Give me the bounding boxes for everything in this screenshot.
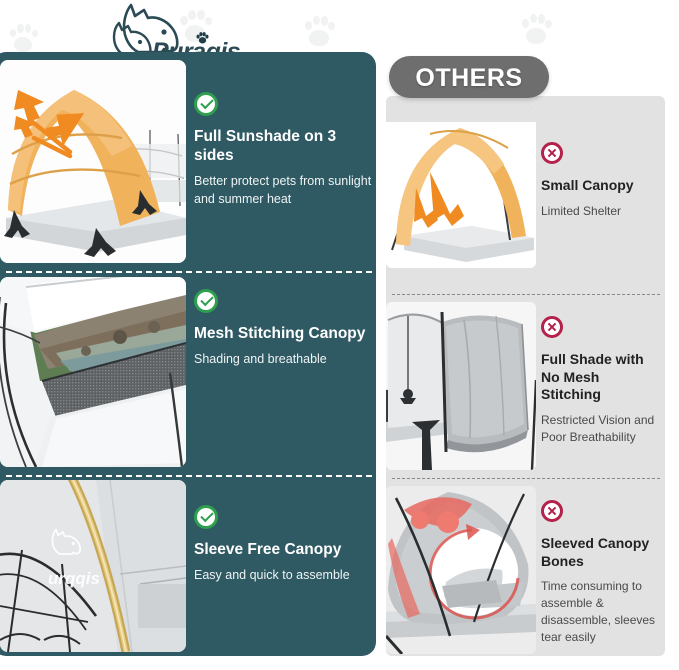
brand-row-divider-1	[6, 271, 372, 273]
cross-circle-icon	[541, 500, 563, 522]
others-row-1-text: Small Canopy Limited Shelter	[541, 142, 661, 220]
others-header-badge: OTHERS	[389, 56, 549, 98]
others-row-3-description: Time consuming to assemble & disassemble…	[541, 578, 661, 646]
brand-row-divider-2	[6, 475, 372, 477]
brand-row-1-image	[0, 60, 186, 263]
brand-row-3-image: urqqis	[0, 480, 186, 652]
paw-print-icon	[520, 12, 552, 46]
brand-row-1-description: Better protect pets from sunlight and su…	[194, 173, 374, 209]
comparison-infographic: Puraqis OTHERS	[0, 0, 679, 670]
others-row-1-description: Limited Shelter	[541, 203, 661, 220]
brand-row-3-text: Sleeve Free Canopy Easy and quick to ass…	[194, 505, 374, 585]
paw-print-icon	[303, 14, 335, 48]
svg-text:urqqis: urqqis	[48, 569, 100, 588]
others-row-2-title: Full Shade with No Mesh Stitching	[541, 351, 661, 404]
others-row-2-description: Restricted Vision and Poor Breathability	[541, 412, 661, 446]
brand-row-3-description: Easy and quick to assemble	[194, 567, 374, 585]
others-row-divider-1	[392, 294, 660, 295]
brand-row-2-description: Shading and breathable	[194, 351, 374, 369]
brand-row-2-image	[0, 277, 186, 467]
others-row-2-text: Full Shade with No Mesh Stitching Restri…	[541, 316, 661, 446]
brand-row-1-title: Full Sunshade on 3 sides	[194, 128, 374, 166]
others-row-3-title: Sleeved Canopy Bones	[541, 535, 661, 570]
brand-row-2-title: Mesh Stitching Canopy	[194, 325, 374, 344]
others-row-1-title: Small Canopy	[541, 177, 661, 195]
others-row-2-image	[386, 302, 536, 470]
cross-circle-icon	[541, 316, 563, 338]
paw-print-icon	[8, 22, 38, 54]
check-circle-icon	[194, 289, 218, 313]
check-circle-icon	[194, 505, 218, 529]
others-row-divider-2	[392, 478, 660, 479]
brand-row-1-text: Full Sunshade on 3 sides Better protect …	[194, 92, 374, 208]
others-row-3-text: Sleeved Canopy Bones Time consuming to a…	[541, 500, 661, 646]
brand-row-3-title: Sleeve Free Canopy	[194, 541, 374, 560]
others-row-1-image	[386, 104, 536, 268]
paw-print-icon	[196, 32, 209, 44]
others-header-label: OTHERS	[389, 64, 549, 93]
cross-circle-icon	[541, 142, 563, 164]
others-row-3-image	[386, 486, 536, 654]
check-circle-icon	[194, 92, 218, 116]
brand-row-2-text: Mesh Stitching Canopy Shading and breath…	[194, 289, 374, 369]
